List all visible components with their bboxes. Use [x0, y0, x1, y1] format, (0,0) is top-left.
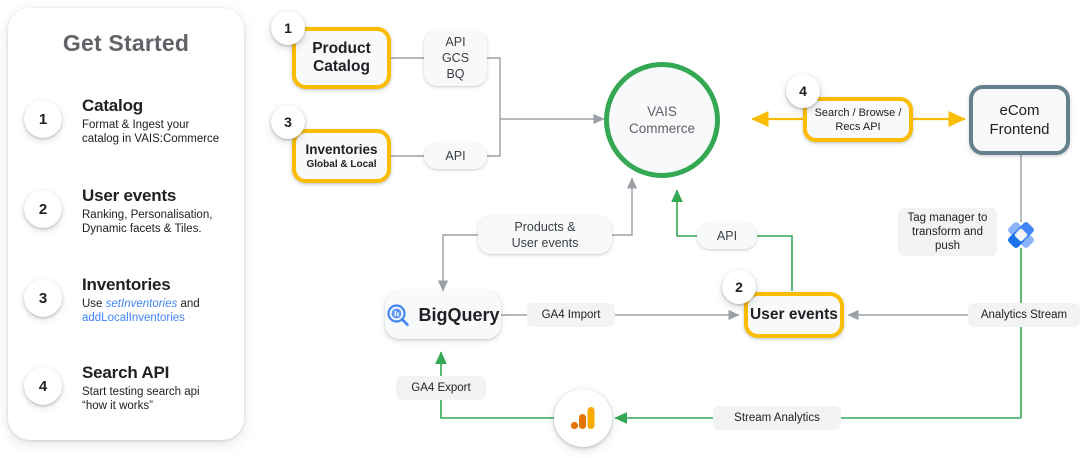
node-label-line-1: eCom [999, 101, 1039, 120]
node-ga4-import: GA4 Import [527, 303, 615, 327]
node-label-line-2: Commerce [629, 120, 695, 137]
node-label-line-2: Catalog [313, 58, 370, 76]
node-api-user-events[interactable]: API [697, 223, 757, 249]
chip-label: GA4 Export [411, 381, 470, 395]
badge-step-1: 1 [271, 11, 305, 45]
node-label-line-1: Inventories [305, 141, 377, 159]
node-label-line-1: Search / Browse / [815, 106, 902, 120]
chip-line-1: Products & [514, 219, 575, 235]
node-api-gcs-bq[interactable]: API GCS BQ [424, 30, 487, 86]
chip-line-1: API [445, 34, 465, 50]
node-ga4-export: GA4 Export [396, 376, 486, 400]
chip-line-1: Tag manager to [908, 211, 988, 225]
badge-step-4: 4 [786, 74, 820, 108]
diagram-page: Get Started 1 Catalog Format & Ingest yo… [0, 0, 1082, 458]
node-label-line-2: Frontend [989, 120, 1049, 139]
google-tag-manager-icon [1004, 218, 1038, 252]
google-analytics-icon [568, 403, 598, 433]
node-ecom-frontend[interactable]: eCom Frontend [969, 85, 1070, 155]
edge-userevents-to-api-green [757, 236, 792, 291]
edge-api-to-vais-green [677, 190, 697, 236]
chip-label: API [445, 148, 465, 164]
chip-line-2: transform and [912, 225, 983, 239]
chip-line-3: push [935, 239, 960, 253]
edge-products-userevents-to-vais [612, 178, 632, 235]
node-product-catalog[interactable]: Product Catalog [292, 27, 391, 89]
node-inventories[interactable]: Inventories Global & Local [292, 129, 391, 183]
badge-step-2: 2 [722, 270, 756, 304]
badge-step-3: 3 [271, 105, 305, 139]
chip-line-2: User events [512, 235, 579, 251]
edge-bus-bottom [487, 119, 500, 156]
node-user-events[interactable]: User events [744, 292, 844, 338]
node-stream-analytics: Stream Analytics [713, 406, 841, 430]
node-tag-manager-note: Tag manager to transform and push [898, 208, 997, 256]
node-products-user-events[interactable]: Products & User events [478, 216, 612, 254]
edge-products-userevents-to-bigquery [443, 235, 478, 291]
node-google-analytics[interactable] [554, 389, 612, 447]
node-label-line-1: VAIS [647, 103, 677, 120]
node-label-line-1: Product [312, 40, 371, 58]
bigquery-icon [386, 303, 410, 327]
node-label: BigQuery [418, 305, 499, 326]
node-vais-commerce[interactable]: VAIS Commerce [604, 62, 720, 178]
chip-label: Stream Analytics [734, 411, 820, 425]
node-bigquery[interactable]: BigQuery [385, 291, 501, 339]
node-label-line-2: Recs API [835, 120, 880, 134]
chip-label: Analytics Stream [981, 308, 1067, 322]
node-search-browse-recs-api[interactable]: Search / Browse / Recs API [803, 97, 913, 142]
node-analytics-stream: Analytics Stream [968, 303, 1080, 327]
node-label: User events [750, 306, 838, 324]
chip-line-2: GCS [442, 50, 469, 66]
chip-line-3: BQ [446, 66, 464, 82]
node-api-inventories[interactable]: API [424, 143, 487, 169]
chip-label: API [717, 228, 737, 244]
chip-label: GA4 Import [542, 308, 601, 322]
node-label-line-2: Global & Local [306, 159, 376, 171]
edge-bus-top [487, 58, 500, 119]
